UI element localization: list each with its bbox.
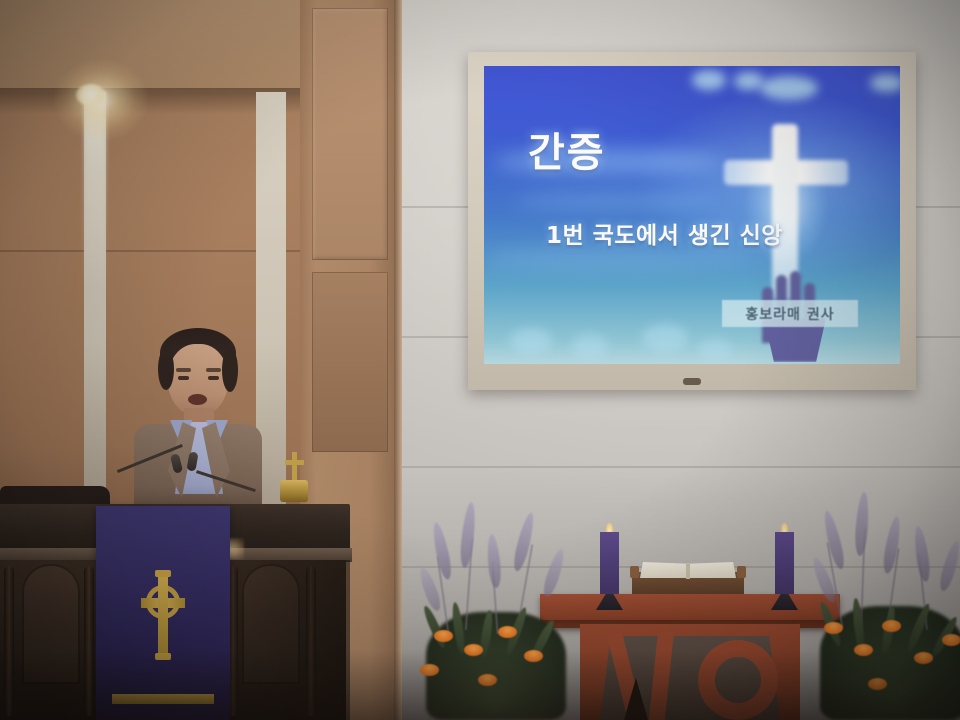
plume-stalk <box>937 539 960 592</box>
orange-bloom <box>434 630 453 642</box>
bokeh-light <box>760 76 818 100</box>
speaker-eye <box>208 376 219 380</box>
speaker-brow <box>206 368 221 372</box>
slide-title: 간증 <box>528 120 606 178</box>
projection-screen-display: 홍보라매 권사 간증 1번 국도에서 생긴 신앙 <box>484 66 900 364</box>
name-badge-label: 홍보라매 권사 <box>722 300 858 327</box>
speaker-mouth <box>188 394 207 405</box>
bokeh-light <box>698 338 732 360</box>
plume-stalk <box>821 509 847 570</box>
wall-seam <box>400 466 960 468</box>
plume-stalk <box>541 547 568 598</box>
orange-bloom <box>498 626 517 638</box>
celtic-cross-icon <box>137 572 189 658</box>
bokeh-light <box>642 324 688 352</box>
pilaster-inset-panel <box>312 8 388 260</box>
slide-subtitle: 1번 국도에서 생긴 신앙 <box>546 216 783 250</box>
orange-bloom <box>882 620 901 632</box>
plume-stalk <box>511 511 537 572</box>
plume-stalk <box>881 515 903 574</box>
bokeh-light <box>510 328 552 354</box>
plume-stalk <box>854 492 870 557</box>
bokeh-light <box>572 334 608 358</box>
plume-stalk <box>486 534 503 589</box>
speaker-eye <box>178 376 189 380</box>
speaker-hair-side <box>222 348 238 392</box>
bokeh-light <box>692 70 726 90</box>
speaker-head <box>168 344 228 416</box>
bokeh-light <box>870 74 900 92</box>
speaker-hair-side <box>158 348 174 390</box>
projection-screen[interactable]: 홍보라매 권사 간증 1번 국도에서 생긴 신앙 <box>468 52 916 390</box>
gold-cross-ornament <box>280 452 308 504</box>
speaker-brow <box>176 368 191 372</box>
spotlight-beam <box>84 92 106 292</box>
church-sanctuary-photo: 홍보라매 권사 간증 1번 국도에서 생긴 신앙 <box>0 0 960 720</box>
bible-spine <box>686 564 690 579</box>
floor-shadow <box>0 650 960 720</box>
pilaster-inset-panel <box>312 272 388 452</box>
ceiling-spotlight-icon <box>76 84 106 106</box>
orange-bloom <box>942 634 960 646</box>
orange-bloom <box>824 622 843 634</box>
light-streak <box>514 192 714 210</box>
light-streak <box>484 248 744 270</box>
plume-stalk <box>430 521 454 580</box>
plume-stalk <box>912 525 932 582</box>
plume-stalk <box>459 502 478 569</box>
name-badge: 홍보라매 권사 <box>722 300 858 327</box>
pilaster-edge <box>394 0 402 720</box>
